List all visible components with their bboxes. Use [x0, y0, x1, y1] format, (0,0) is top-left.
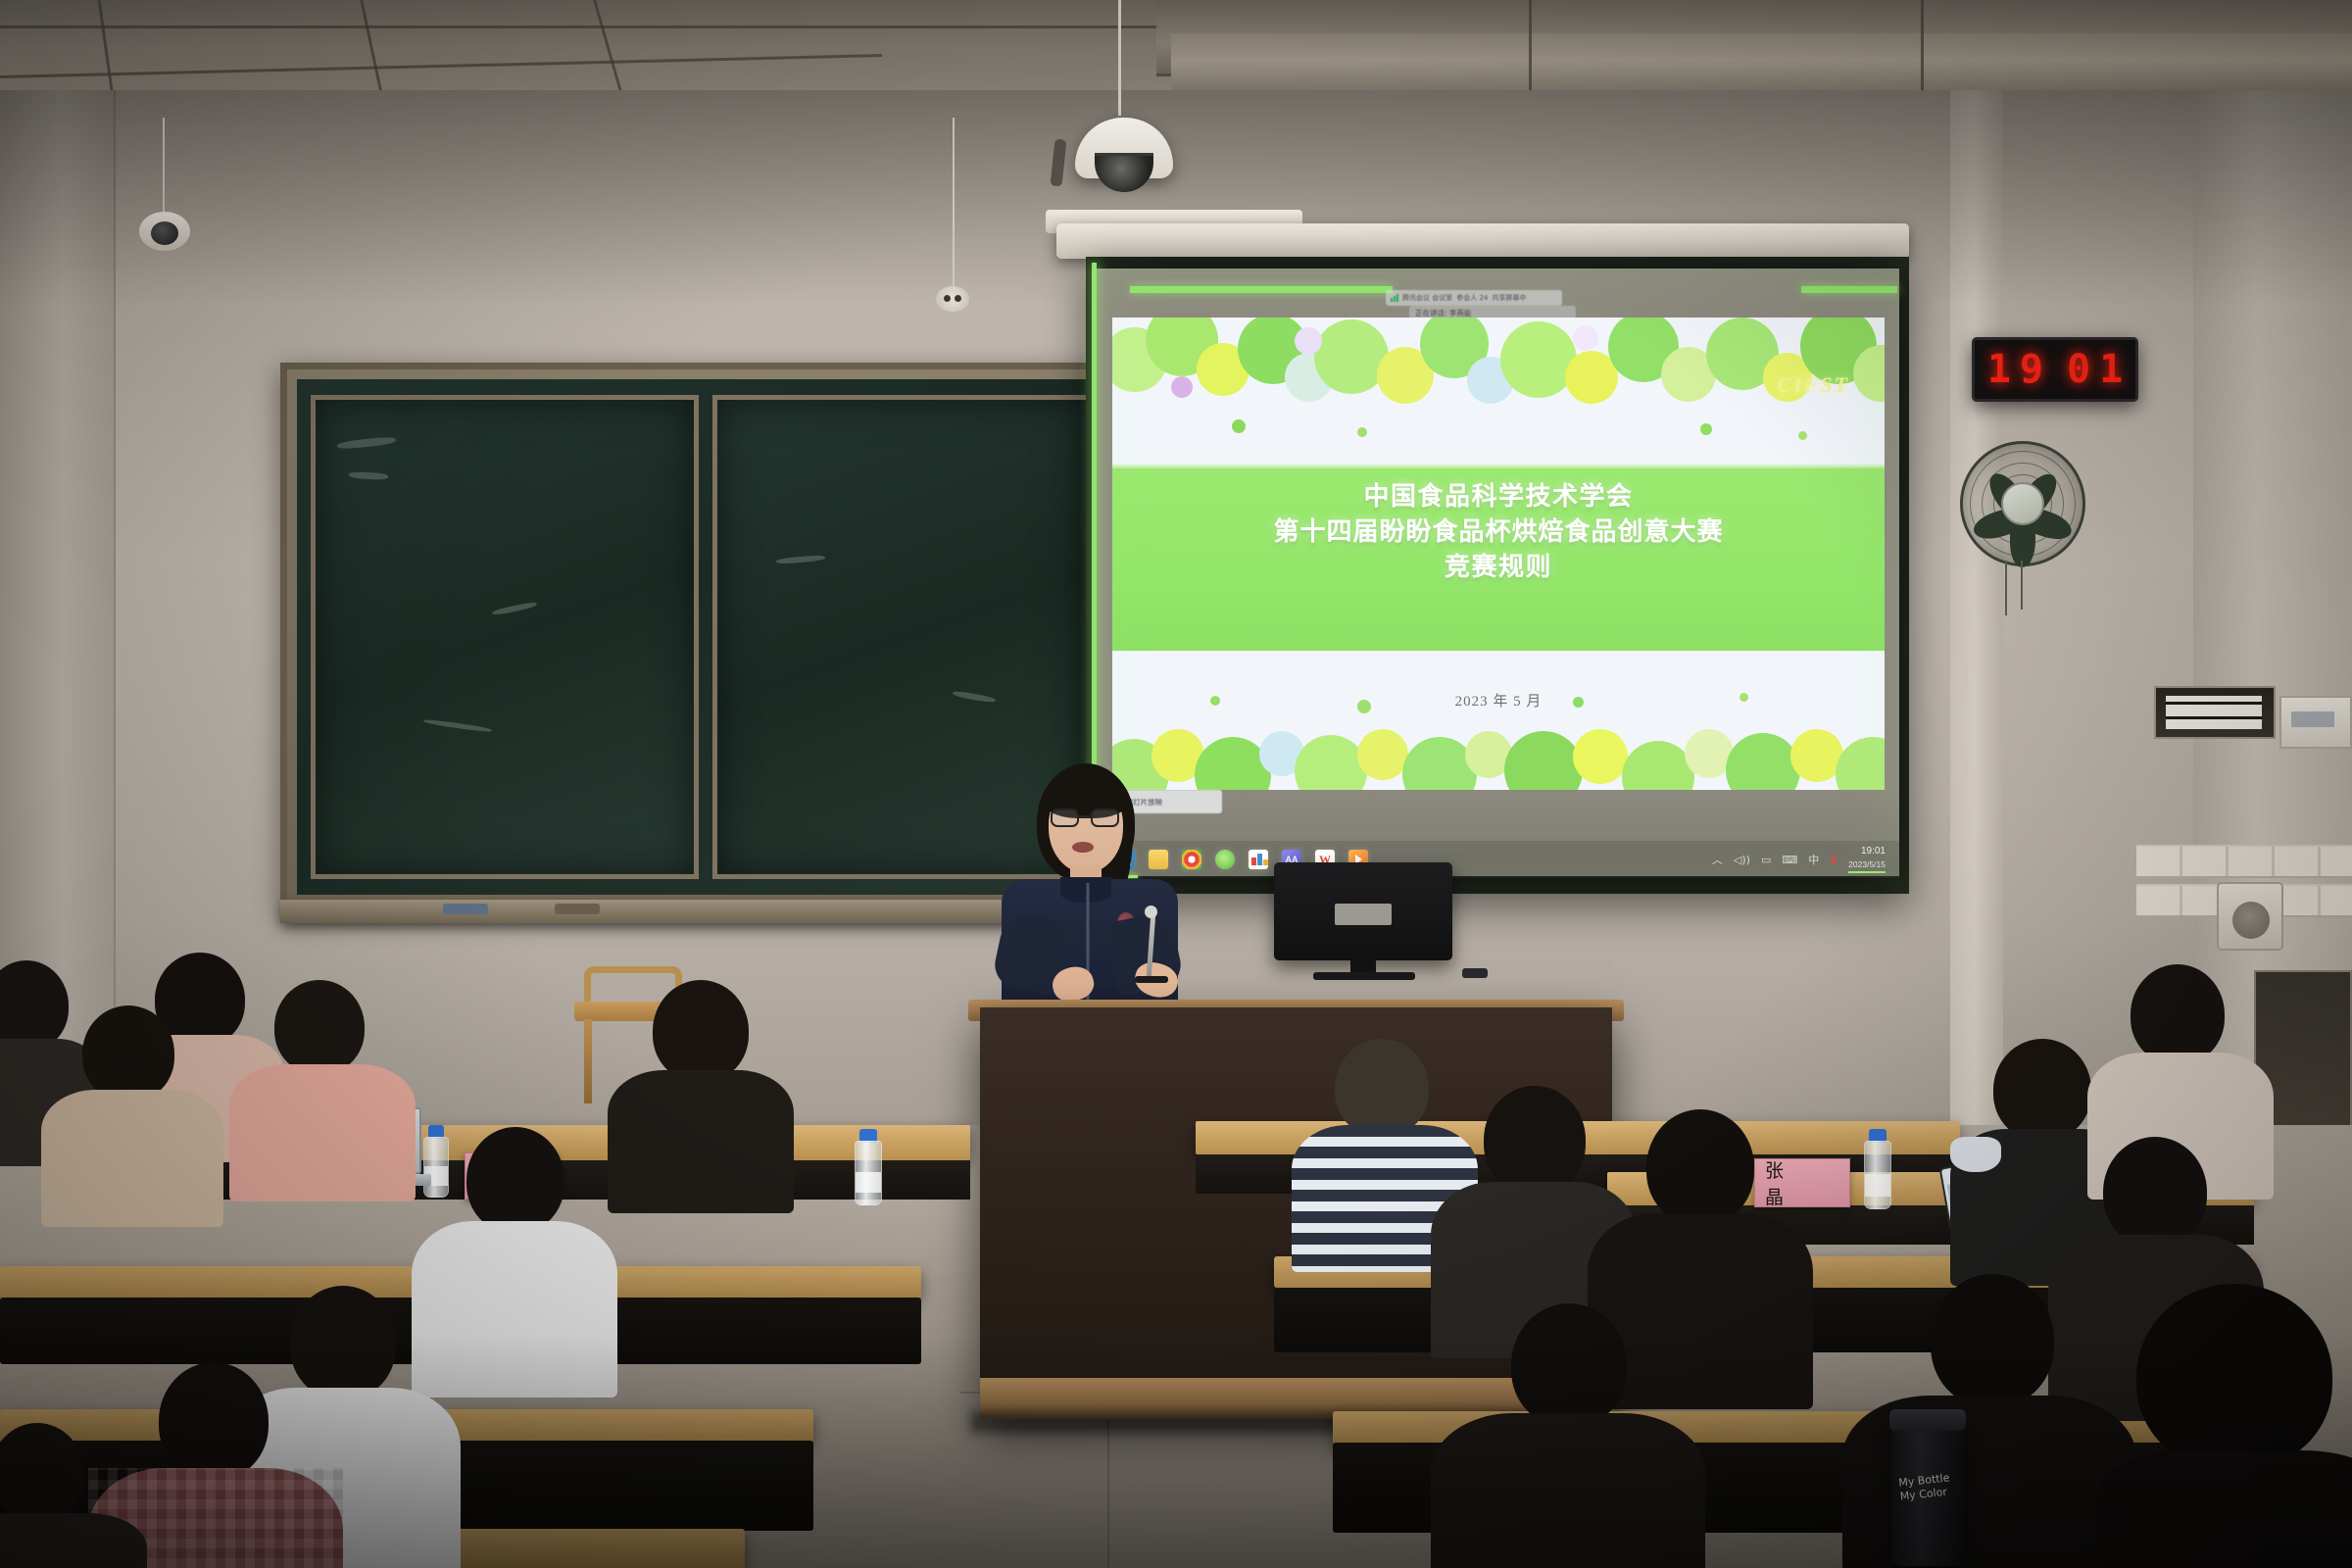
slide-decoration-top	[1112, 318, 1885, 463]
signal-strength-icon	[1391, 294, 1398, 302]
monitor-base	[1313, 972, 1415, 980]
clock-digit-4: 1	[2099, 350, 2123, 389]
tumbler-lid	[1889, 1409, 1966, 1431]
keyboard-icon[interactable]: ⌨	[1782, 854, 1797, 866]
audience-member	[2097, 1284, 2352, 1568]
circuit-breakers	[2166, 696, 2262, 729]
wall-tiles	[2136, 845, 2352, 878]
meeting-speaker: 正在讲话: 李燕能	[1415, 308, 1471, 318]
screen-housing	[1056, 223, 1909, 259]
screen-edge-highlight	[1130, 286, 1393, 293]
presentation-slide: CIFST 中国食品科学技术学会 第十四届盼盼食品杯烘焙食品创意大赛 竞赛规则 …	[1112, 318, 1885, 790]
ceiling-mount-rod	[1118, 0, 1121, 116]
ceiling-cable	[953, 118, 955, 289]
chalk-tray-clip	[555, 904, 600, 914]
fan-pull-cord	[2005, 561, 2007, 615]
presenter-mouth	[1072, 842, 1094, 853]
eyeglasses-icon	[1051, 808, 1121, 828]
meeting-share-status: 共享屏幕中	[1492, 293, 1526, 303]
chalk-tray-clip	[443, 904, 488, 914]
audience-member	[57, 1005, 204, 1201]
audience-member	[1842, 1274, 2136, 1568]
wall-socket-icon	[936, 286, 969, 312]
audience-member	[0, 1423, 147, 1568]
meeting-toolbar[interactable]: 腾讯会议 会议室 参会人 24 共享屏幕中	[1386, 290, 1562, 306]
clock-digit-1: 1	[1987, 350, 2011, 389]
wall-speaker-icon	[2217, 882, 2283, 951]
slide-title-line-3: 竞赛规则	[1112, 551, 1885, 586]
audience-member	[235, 980, 402, 1196]
windows-taskbar[interactable]: W ︿ ◁)) ▭ ⌨ 中 S 19:01 2023/5/15	[1096, 841, 1899, 878]
chalkboard-inner	[297, 379, 1087, 895]
taskbar-clock-date: 2023/5/15	[1848, 859, 1886, 873]
system-tray[interactable]: ︿ ◁)) ▭ ⌨ 中 S 19:01 2023/5/15	[1712, 846, 1886, 872]
cifst-logo: CIFST	[1777, 372, 1849, 398]
meeting-title: 腾讯会议 会议室	[1402, 293, 1452, 303]
ceiling-duct	[1171, 33, 2352, 94]
chevron-up-icon[interactable]: ︿	[1712, 852, 1723, 867]
camera-cable	[163, 118, 165, 216]
taskbar-clock[interactable]: 19:01 2023/5/15	[1848, 846, 1886, 872]
taskbar-clock-time: 19:01	[1848, 846, 1886, 858]
security-icon[interactable]: S	[1830, 854, 1837, 866]
ceiling-grid-line	[1921, 0, 1924, 94]
network-icon[interactable]: ▭	[1761, 854, 1771, 866]
security-camera-icon	[139, 212, 190, 251]
audience-member	[608, 980, 794, 1205]
bottle-body	[1864, 1141, 1891, 1209]
meeting-participants: 参会人 24	[1456, 293, 1488, 303]
audience-member-mask	[1940, 1127, 2019, 1186]
volume-icon[interactable]: ◁))	[1734, 854, 1750, 866]
tumbler-text: My Bottle My Color	[1898, 1471, 1952, 1503]
microphone-base	[1135, 976, 1168, 983]
wall-fan-icon	[1960, 441, 2085, 566]
ime-icon[interactable]: 中	[1808, 852, 1819, 867]
fan-pull-cord	[2021, 561, 2023, 610]
led-wall-clock: 1 9 0 1	[1972, 337, 2138, 402]
powerpoint-icon[interactable]	[1249, 850, 1268, 869]
classroom-scene: 腾讯会议 会议室 参会人 24 共享屏幕中 正在讲话: 李燕能	[0, 0, 2352, 1568]
slide-title-line-1: 中国食品科学技术学会	[1112, 480, 1885, 515]
audience-member	[1431, 1303, 1705, 1568]
wall-notice-frame	[2279, 696, 2352, 749]
ceiling-grid-line	[0, 25, 1176, 28]
chair-leg	[584, 1019, 592, 1103]
podium-remote[interactable]	[1462, 968, 1488, 978]
green-app-icon[interactable]	[1215, 850, 1235, 869]
screen-edge-highlight	[1801, 286, 1897, 293]
ceiling-grid-line	[1529, 0, 1532, 94]
water-bottle	[1864, 1129, 1891, 1209]
slide-title-line-2: 第十四届盼盼食品杯烘焙食品创意大赛	[1112, 515, 1885, 551]
slide-decoration-bottom	[1112, 664, 1885, 790]
bottle-body	[855, 1141, 882, 1205]
water-bottle	[855, 1129, 882, 1205]
travel-tumbler: My Bottle My Color	[1891, 1419, 1964, 1566]
audience-eyeglasses-icon	[94, 1051, 155, 1066]
clock-digit-2: 9	[2020, 350, 2043, 389]
chalkboard-panel-left	[311, 395, 699, 879]
slide-title-group: 中国食品科学技术学会 第十四届盼盼食品杯烘焙食品创意大赛 竞赛规则	[1112, 480, 1885, 586]
microphone-head	[1145, 906, 1157, 918]
clock-digit-3: 0	[2067, 350, 2090, 389]
presenter-monitor	[1274, 862, 1452, 960]
